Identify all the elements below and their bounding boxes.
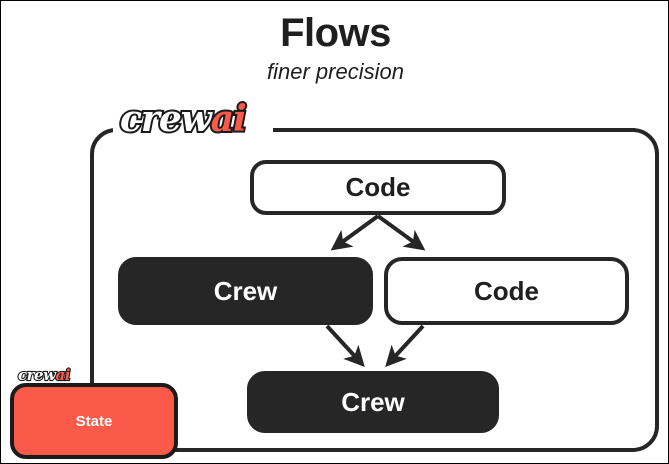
- node-crew-bot[interactable]: Crew: [247, 371, 499, 433]
- crewai-logo-mini-crew-text: crew: [18, 366, 56, 384]
- flows-diagram-canvas: Flows finer precision crewai Code Crew C…: [0, 0, 669, 464]
- crewai-logo-mini: crewai: [18, 368, 70, 383]
- crewai-logo: crewai: [120, 101, 246, 137]
- node-state-label: State: [76, 413, 113, 430]
- crewai-logo-ai-text: ai: [211, 98, 246, 140]
- node-crew-bot-label: Crew: [341, 387, 405, 418]
- node-state[interactable]: State: [10, 383, 178, 459]
- node-code-mid-label: Code: [474, 276, 539, 307]
- page-subtitle: finer precision: [1, 59, 669, 85]
- node-code-mid[interactable]: Code: [384, 257, 629, 325]
- node-crew-mid[interactable]: Crew: [118, 257, 373, 325]
- crewai-logo-crew-text: crew: [120, 98, 211, 140]
- node-code-top[interactable]: Code: [250, 160, 506, 215]
- crewai-logo-mini-ai-text: ai: [56, 366, 70, 384]
- node-crew-mid-label: Crew: [214, 276, 278, 307]
- node-code-top-label: Code: [346, 172, 411, 203]
- page-title: Flows: [1, 11, 669, 56]
